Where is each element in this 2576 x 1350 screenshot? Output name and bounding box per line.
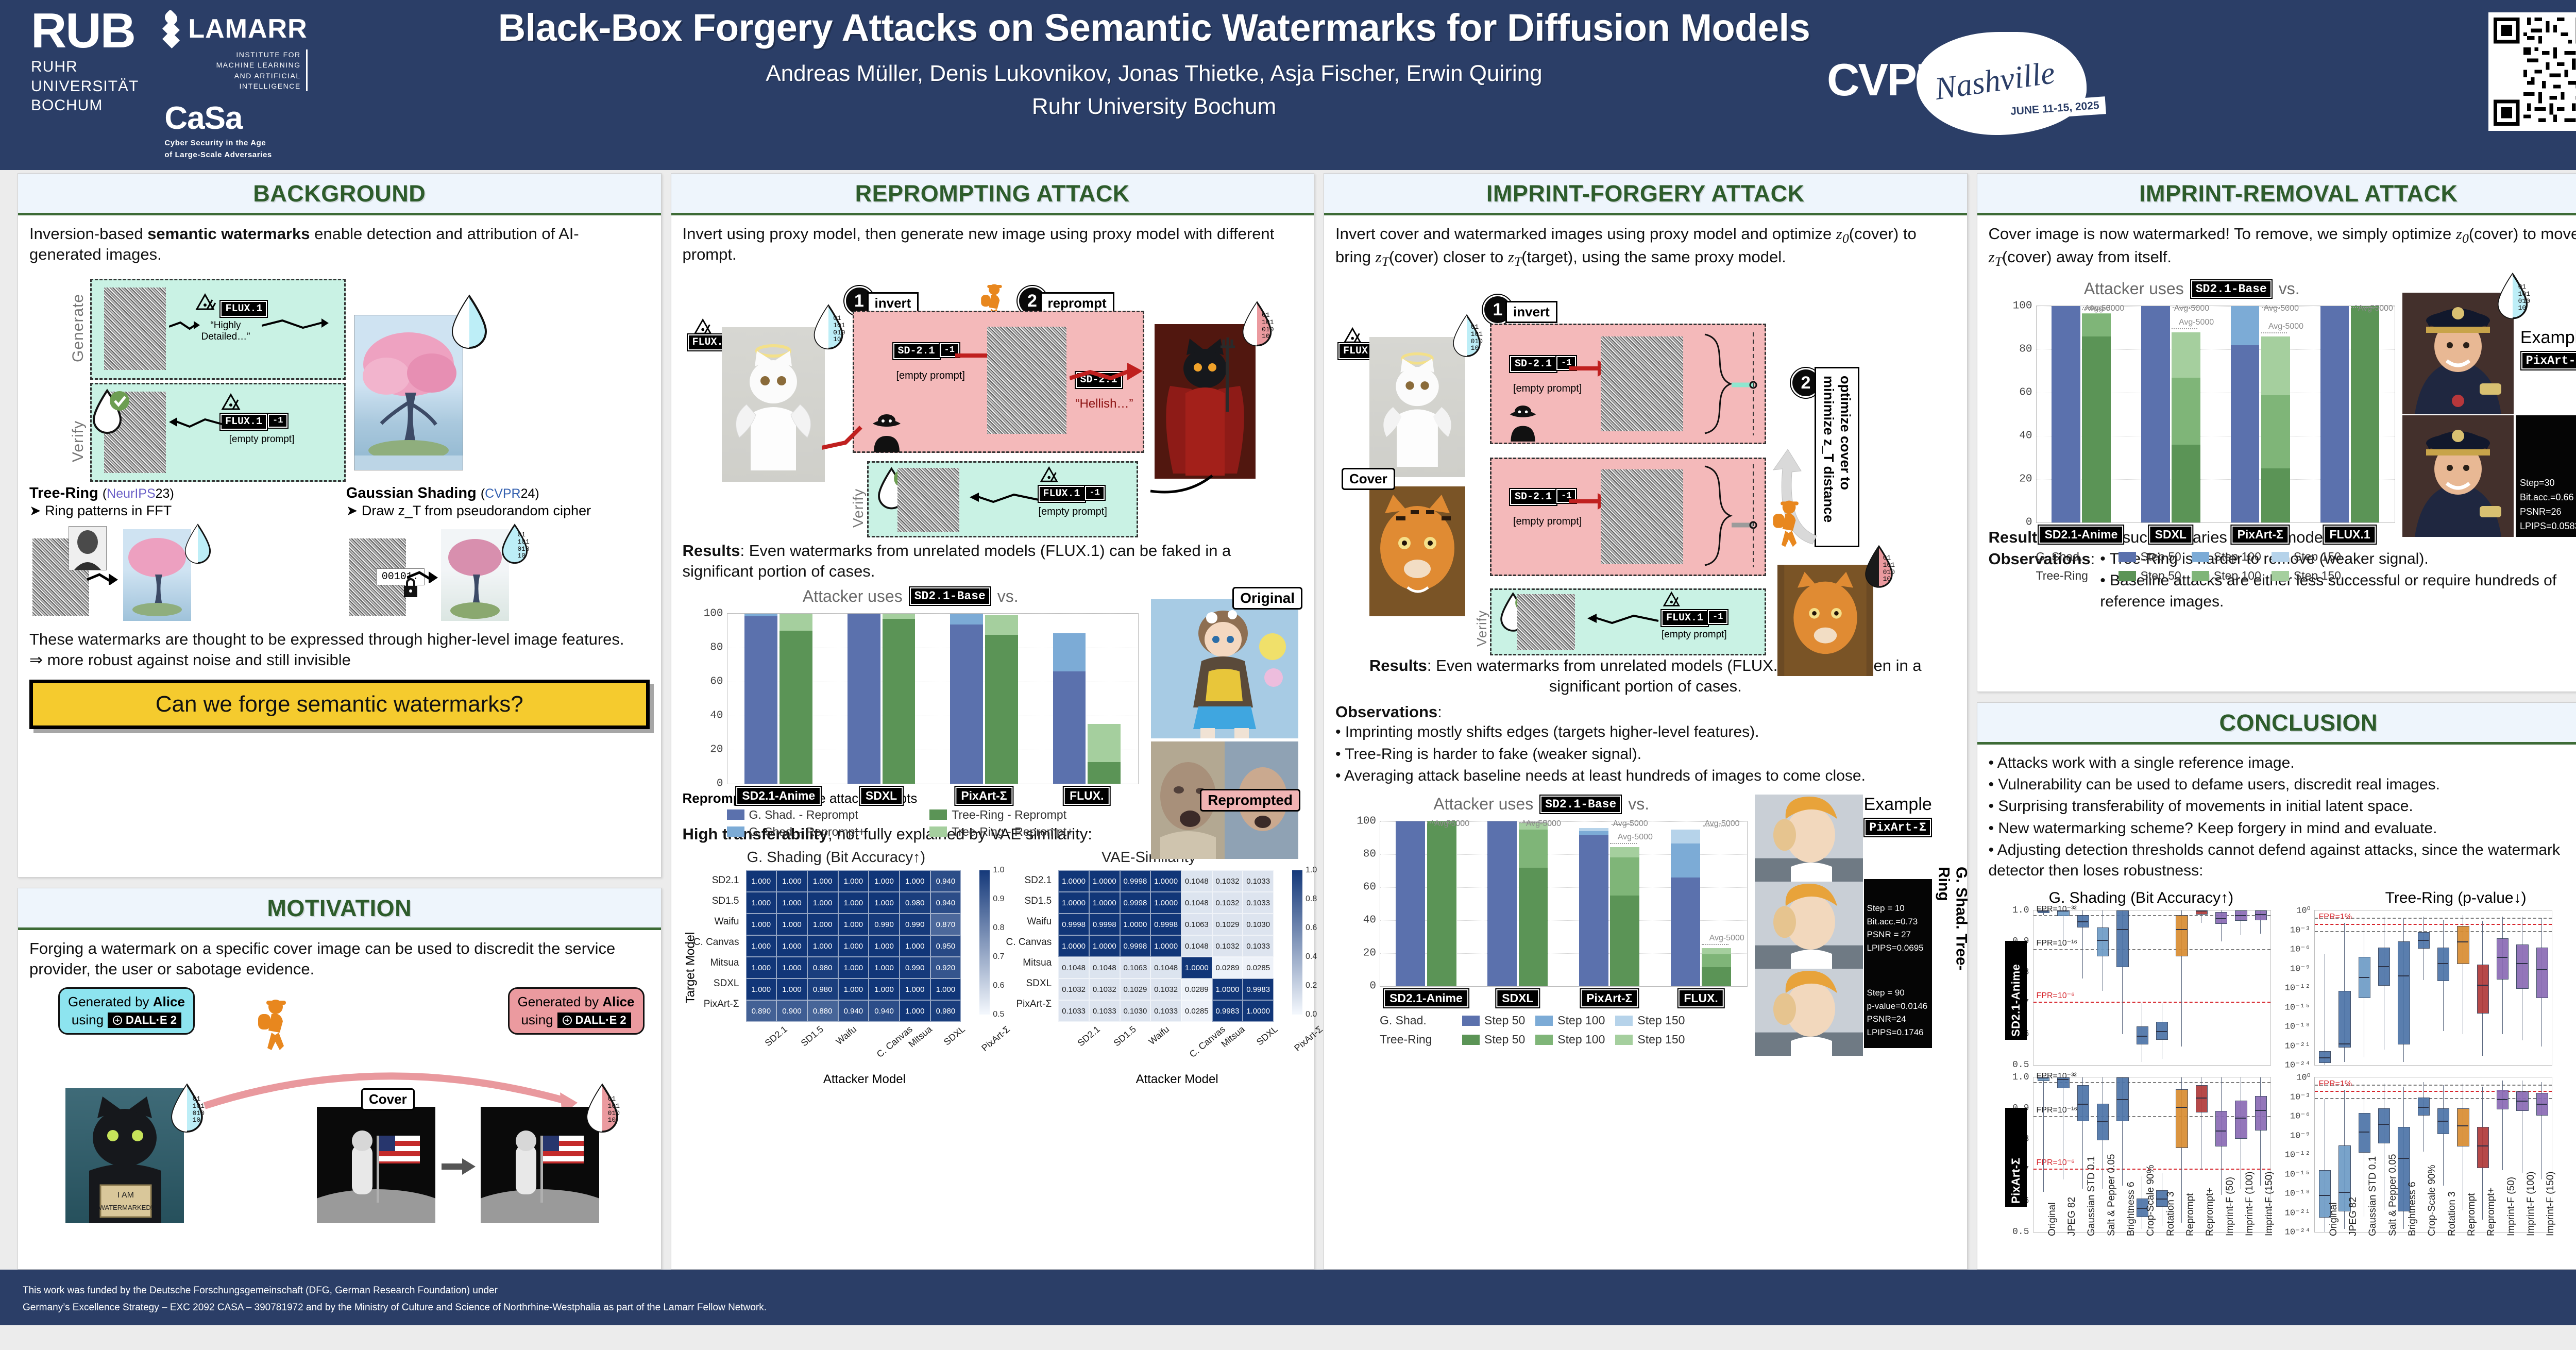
- imprint-removal-header: IMPRINT-REMOVAL ATTACK: [1977, 174, 2576, 215]
- heatmap-cell-3-3: 1.000: [838, 935, 869, 957]
- if-prompt-1: [empty prompt]: [1513, 383, 1582, 395]
- imprint-forgery-body: Invert cover and watermarked images usin…: [1324, 215, 1967, 1269]
- bar-PixArt-3: [1610, 896, 1639, 986]
- if-stat2-2: PSNR=24: [1867, 1012, 1929, 1026]
- boxplot-xlabel-3-5: Crop-Scale 90%: [2427, 1165, 2438, 1236]
- heatmap-cell-5-3: 0.1032: [1150, 978, 1181, 1000]
- tree-ring-arrow: [87, 570, 124, 585]
- bar-FLUX-0: [1053, 671, 1086, 784]
- heatmap-col-label-6: PixArt-Σ: [954, 1022, 990, 1071]
- if-step-2-label-box: optimize cover to minimize z_T distance: [1815, 367, 1859, 547]
- casa-subtitle-1: Cyber Security in the Age: [164, 138, 307, 149]
- lamarr-subtitle: INSTITUTE FORMACHINE LEARNINGAND ARTIFIC…: [164, 49, 307, 91]
- rub-subtitle: RUHR UNIVERSITÄT BOCHUM: [31, 57, 139, 115]
- boxplot-whisker-2-0: [2043, 1077, 2044, 1192]
- heatmap-gshading-block[interactable]: G. Shading (Bit Accuracy↑) SD2.1SD1.5Wai…: [683, 849, 990, 1087]
- boxplot-box-3-7: [2457, 1108, 2469, 1146]
- sd21-tag-invert: SD-2.1: [893, 343, 940, 359]
- angel-cat-art: [722, 327, 825, 482]
- boxplot-panel-1[interactable]: 10⁰10⁻³10⁻⁶10⁻⁹10⁻¹²10⁻¹⁵10⁻¹⁸10⁻²¹10⁻²⁴…: [2314, 910, 2552, 1066]
- ir-stat-0: Step=30: [2520, 476, 2576, 491]
- heatmap-cell-0-3: 1.0000: [1150, 870, 1181, 892]
- heatmap-grid: 1.00001.00000.99981.00000.10480.10320.10…: [1058, 870, 1274, 1022]
- legend-item-3: Tree-Ring - Reprompt+: [929, 825, 1119, 839]
- imprint-forgery-header: IMPRINT-FORGERY ATTACK: [1324, 174, 1967, 215]
- boxplot-box-0-3: [2097, 927, 2109, 956]
- heatmap-col-label-5: SDXL: [1231, 1022, 1267, 1071]
- heatmap-col-label-6: PixArt-Σ: [1266, 1022, 1302, 1071]
- boxplot-ytick-r-3-1: 10⁻³: [2290, 1091, 2311, 1102]
- boxplot-xlabel-2-11: Imprint-F (150): [2264, 1171, 2275, 1236]
- boxplot-threshold-label-r-3: FPR=1%: [2319, 1079, 2352, 1089]
- if-verify-stage: Verify FLUX.1 -1: [1490, 588, 1766, 655]
- reprompt-red-arrow: [1070, 360, 1150, 384]
- if-stat2-1: p-value=0.0146: [1867, 1000, 1929, 1013]
- flux-triangle-icon-verify: [221, 392, 244, 411]
- panel-reprompting: REPROMPTING ATTACK Invert using proxy mo…: [671, 173, 1315, 1270]
- lamarr-mark-icon: [164, 12, 182, 45]
- ir-example-label: Example: [2516, 328, 2576, 348]
- boxplot-median-3-9: [2497, 1099, 2507, 1100]
- if-stat2-3: LPIPS=0.1746: [1867, 1026, 1929, 1039]
- if-distribution-2: [1700, 463, 1761, 569]
- tree-ring-title: Tree-Ring (NeurIPS23): [29, 485, 333, 502]
- rub-logo: RUB RUHR UNIVERSITÄT BOCHUM: [31, 7, 139, 115]
- heatmap-cell-2-6: 0.870: [930, 914, 961, 935]
- boxplot-xlabel-2-5: Crop-Scale 90%: [2145, 1165, 2157, 1236]
- heatmap-row-label-6: PixArt-Σ: [995, 994, 1055, 1015]
- boxplot-box-2-2: [2077, 1085, 2089, 1121]
- poster-columns: BACKGROUND Inversion-based semantic wate…: [0, 173, 2576, 1270]
- chart-ir-bar[interactable]: Removal Success (%) 020406080100Avg-5000…: [2036, 306, 2396, 522]
- heatmap-cell-1-2: 0.9998: [1120, 892, 1151, 914]
- heatmap-cbar-tick-3: 0.6: [1306, 923, 1317, 933]
- ir-stat-1: Bit.acc.=0.66: [2520, 491, 2576, 505]
- heatmap-cell-2-0: 1.000: [746, 914, 777, 935]
- conclusion-header: CONCLUSION: [1977, 703, 2576, 745]
- bar-SD21Anime-3: [1427, 821, 1456, 986]
- heatmap-cell-2-3: 1.000: [838, 914, 869, 935]
- if-latent-1: [1601, 336, 1683, 431]
- flux-inv-sup-rp: -1: [1085, 486, 1105, 500]
- boxplot-threshold-label-0-1: FPR=10⁻¹⁶: [2037, 938, 2078, 948]
- gauss-bullet: ➤ Draw z_T from pseudorandom cipher: [346, 503, 650, 519]
- if-verify-arrow: [1584, 613, 1659, 626]
- boxplot-median-2-8: [2196, 1098, 2207, 1099]
- heatmap-col-label-4: Mitsua: [883, 1022, 919, 1071]
- heatmap-cell-5-6: 1.000: [930, 978, 961, 1000]
- footer-line-2: Germany’s Excellence Strategy – EXC 2092…: [23, 1299, 2576, 1316]
- boxplot-median-2-3: [2097, 1121, 2108, 1122]
- heatmap-cell-2-4: 0.1063: [1181, 914, 1212, 935]
- openai-icon: [112, 1015, 123, 1025]
- boxplot-median-2-10: [2235, 1118, 2246, 1119]
- boxplot-box-2-9: [2215, 1111, 2227, 1146]
- bar-SD21Anime-2: [779, 631, 812, 784]
- heatmap-cell-5-2: 0.1029: [1120, 978, 1151, 1000]
- page-title: Black-Box Forgery Attacks on Semantic Wa…: [495, 7, 1814, 48]
- boxplot-box-1-11: [2536, 948, 2548, 998]
- reprompted-label: Reprompted: [1200, 789, 1300, 812]
- heatmap-gshading-title: G. Shading (Bit Accuracy↑): [683, 849, 990, 866]
- legend-item-2: Tree-Ring - Reprompt: [929, 808, 1119, 822]
- conclusion-bullets: • Attacks work with a single reference i…: [1989, 753, 2576, 881]
- boxplot-xlabel-2-10: Imprint-F (100): [2244, 1171, 2256, 1236]
- zt-symbol-2: zT: [1508, 248, 1521, 266]
- heatmap-cell-6-0: 0.890: [746, 1000, 777, 1022]
- openai-icon-2: [562, 1015, 572, 1025]
- if-cover-label: Cover: [1342, 468, 1395, 490]
- boxplot-median-3-8: [2477, 1145, 2488, 1146]
- boxplot-median-0-8: [2196, 910, 2207, 912]
- flux-triangle-icon-vrp: [1039, 465, 1062, 483]
- z0-symbol-1: z0: [1836, 225, 1849, 243]
- boxplot-threshold-label-0-2: FPR=10⁻⁶: [2037, 990, 2075, 1001]
- boxplot-ytick-r-3-3: 10⁻⁹: [2290, 1130, 2311, 1141]
- affiliation: Ruhr University Bochum: [495, 94, 1814, 120]
- legend-item-1: G. Shad. - Reprompt+: [727, 825, 917, 839]
- boxplot-xlabel-2-7: Reprompt: [2185, 1193, 2196, 1236]
- boxplot-whisker-3-3: [2384, 1084, 2384, 1210]
- background-body: Inversion-based semantic watermarks enab…: [18, 215, 661, 877]
- heatmap-cell-4-5: 0.990: [900, 957, 930, 978]
- bar-SD21Anime-0: [744, 616, 777, 784]
- ir-stat-2: PSNR=26: [2520, 505, 2576, 519]
- verify-stage-rp: Verify FLUX.1 -1: [867, 461, 1138, 537]
- arrow-noise-to-model: [169, 319, 200, 331]
- heatmap-cell-1-5: 0.1032: [1212, 892, 1243, 914]
- astronaut-art: [317, 1107, 435, 1223]
- boxplot-xlabel-3-3: Salt & Pepper 0.05: [2387, 1154, 2399, 1237]
- boxplot-treering-block[interactable]: Tree-Ring (p-value↓): [2303, 889, 2576, 907]
- if-stat1-0: Step = 10: [1867, 902, 1929, 915]
- if-observation-1: • Tree-Ring is harder to fake (weaker si…: [1335, 744, 1956, 765]
- generated-tree-image: [354, 315, 463, 470]
- ir-z0-symbol: z0: [2456, 225, 2469, 243]
- lamarr-logo: LAMARR INSTITUTE FORMACHINE LEARNINGAND …: [164, 12, 307, 91]
- attacker-model-tag-if: SD2.1-Base: [1540, 796, 1621, 813]
- boxplot-box-1-1: [2338, 991, 2350, 1048]
- poster-root: RUB RUHR UNIVERSITÄT BOCHUM LAMARR INSTI…: [0, 0, 2576, 1325]
- heatmap-cell-6-5: 0.9983: [1212, 1000, 1243, 1022]
- boxplot-panel-0[interactable]: 0.50.60.70.80.91.0FPR=10⁻³²FPR=10⁻¹⁶FPR=…: [2033, 910, 2271, 1066]
- spy-icon-if: [1506, 403, 1540, 443]
- ir-droplet-bits: 0110101010: [2518, 283, 2530, 312]
- heatmap-cell-4-0: 1.000: [746, 957, 777, 978]
- boxplot-ytick-0-0: 0.5: [2012, 1060, 2029, 1070]
- boxplot-xlabel-3-8: Reprompt+: [2486, 1188, 2497, 1237]
- if-verify-latent: [1517, 594, 1575, 650]
- boxplot-box-3-2: [2359, 1113, 2370, 1153]
- heatmap-wrap-hm2: SD2.1SD1.5WaifuC. CanvasMitsuaSDXLPixArt…: [995, 870, 1302, 1022]
- boxplot-median-3-6: [2437, 1121, 2448, 1122]
- if-chart-block: Attacker uses SD2.1-Base vs. Detection S…: [1335, 795, 1748, 986]
- legend-item-0: Step 50: [2119, 550, 2181, 564]
- boxplot-median-1-2: [2359, 977, 2369, 978]
- astronaut-art-2: [481, 1107, 599, 1223]
- heatmap-col-label-2: Waifu: [1123, 1022, 1159, 1071]
- heatmap-cell-6-2: 0.880: [807, 1000, 838, 1022]
- heatmap-cbar-tick-1: 0.2: [1306, 981, 1317, 990]
- boxplot-xlabel-2-9: Imprint-F (50): [2225, 1177, 2236, 1236]
- panel-motivation: MOTIVATION Forging a watermark on a spec…: [18, 888, 662, 1270]
- gauss-arrow: [407, 568, 444, 583]
- if-stat1-2: PSNR = 27: [1867, 928, 1929, 941]
- boxplot-median-0-4: [2116, 929, 2127, 930]
- attacker-caption-if: Attacker uses SD2.1-Base vs.: [1335, 795, 1748, 814]
- heatmap-cell-4-3: 0.1048: [1150, 957, 1181, 978]
- if-distribution-1: [1700, 330, 1761, 437]
- boxplot-panel-2[interactable]: 0.50.60.70.80.91.0FPR=10⁻³²FPR=10⁻¹⁶FPR=…: [2033, 1077, 2271, 1233]
- flux-icon-if: [1343, 326, 1365, 344]
- heatmap-col-label-3: C. Canvas: [846, 1022, 883, 1071]
- if-sd21-node-2: SD-2.1 -1: [1510, 489, 1576, 505]
- chart-reprompt-bar[interactable]: Detection Score (%) 020406080100SD2.1-An…: [727, 613, 1139, 783]
- legend-row-1: Tree-RingStep 50Step 100Step 150: [2036, 569, 2396, 583]
- boxplot-xlabel-2-0: Original: [2047, 1203, 2058, 1236]
- heatmap-cell-0-6: 0.1033: [1243, 870, 1274, 892]
- flux-triangle-icon-if: [1343, 326, 1365, 344]
- chart-reprompt-legend: G. Shad. - RepromptTree-Ring - RepromptG…: [727, 808, 1139, 839]
- heatmap-cell-0-2: 0.9998: [1120, 870, 1151, 892]
- child-photo-art-3: [1755, 969, 1863, 1056]
- sd21-invert-node: SD-2.1 -1: [893, 343, 959, 359]
- generate-stage: FLUX.1 “Highly Detailed…”: [90, 279, 346, 380]
- boxplot-median-3-0: [2319, 1195, 2330, 1196]
- heatmap-cell-0-0: 1.0000: [1058, 870, 1089, 892]
- conclusion-bullet-0: • Attacks work with a single reference i…: [1989, 753, 2576, 773]
- fft-pattern-thumb: [69, 526, 107, 570]
- legend-item-5: Step 150: [2272, 569, 2341, 583]
- boxplot-box-0-11: [2255, 910, 2267, 920]
- boxplot-box-2-8: [2196, 1085, 2208, 1112]
- boxplot-box-2-7: [2176, 1089, 2188, 1148]
- qr-code[interactable]: [2488, 12, 2576, 131]
- heatmap-cell-1-0: 1.000: [746, 892, 777, 914]
- boxplot-median-0-0: [2038, 910, 2048, 912]
- boxplot-whisker-2-1: [2063, 1077, 2063, 1179]
- heatmap-vae-block[interactable]: VAE-Similarity SD2.1SD1.5WaifuC. CanvasM…: [995, 849, 1302, 1087]
- tiger-forged-image: [1777, 565, 1873, 676]
- boxplot-median-3-5: [2418, 1107, 2429, 1108]
- verify-droplet-check: [90, 387, 131, 440]
- footer-line-1: This work was funded by the Deutsche For…: [23, 1282, 2576, 1299]
- boxplot-gshading-title: G. Shading (Bit Accuracy↑): [1989, 889, 2294, 907]
- cat-diver-art: I AM WATERMARKED!: [65, 1088, 184, 1223]
- conclusion-bullet-3: • New watermarking scheme? Keep forgery …: [1989, 818, 2576, 839]
- forged-bits-rp: 0110101010: [1262, 312, 1274, 340]
- heatmap-cell-1-5: 0.980: [900, 892, 930, 914]
- legend-item-3: Step 50: [2119, 569, 2181, 583]
- bar-SDXL-0: [2141, 306, 2170, 522]
- legend-item-1: Step 100: [1535, 1014, 1605, 1027]
- background-closing-1: These watermarks are thought to be expre…: [29, 629, 650, 650]
- boxplot-treering-title: Tree-Ring (p-value↓): [2303, 889, 2576, 907]
- if-example-caption: Example PixArt-Σ: [1864, 795, 1932, 836]
- boxplot-xlabel-3-4: Brightness 6: [2407, 1182, 2418, 1237]
- heatmap-row-label-3: C. Canvas: [995, 932, 1055, 953]
- ir-results-row: Attacker uses SD2.1-Base vs. Removal Suc…: [1989, 279, 2576, 522]
- motivation-figure: Generated by Alice using DALL·E 2: [29, 987, 650, 1229]
- if-child-photo-2: [1755, 882, 1863, 969]
- svg-text:WATERMARKED!: WATERMARKED!: [99, 1204, 153, 1211]
- heatmap-col-label-1: SD1.5: [775, 1022, 811, 1071]
- boxplot-ytick-r-1-7: 10⁻²¹: [2285, 1040, 2311, 1051]
- boxplot-threshold-0-2: [2033, 1002, 2270, 1003]
- boxplot-xlabel-3-7: Reprompt: [2466, 1193, 2478, 1236]
- tiger-cover-image: [1369, 486, 1465, 616]
- watermark-methods-row: Tree-Ring (NeurIPS23) ➤ Ring patterns in…: [29, 485, 650, 626]
- droplet-bits: 0110101010: [517, 531, 529, 560]
- imprint-removal-intro: Cover image is now watermarked! To remov…: [1989, 224, 2576, 270]
- bubble-right-line1: Generated by Alice: [518, 994, 635, 1010]
- portrait-icon: [69, 527, 106, 570]
- imprint-forgery-intro: Invert cover and watermarked images usin…: [1335, 224, 1956, 270]
- boxplot-xlabel-3-9: Imprint-F (50): [2506, 1177, 2517, 1236]
- heatmap-cbar-tick-5: 1.0: [1306, 866, 1317, 875]
- boxplot-panel-3[interactable]: 10⁰10⁻³10⁻⁶10⁻⁹10⁻¹²10⁻¹⁵10⁻¹⁸10⁻²¹10⁻²⁴…: [2314, 1077, 2552, 1233]
- boxplot-whisker-2-11: [2260, 1077, 2261, 1186]
- boxplot-median-1-8: [2477, 985, 2488, 986]
- if-step-1-label: invert: [1505, 301, 1557, 323]
- if-forged-bits: 0110101010: [1883, 554, 1895, 583]
- heatmap-cell-4-6: 0.0285: [1243, 957, 1274, 978]
- heatmap-cell-2-3: 0.9998: [1150, 914, 1181, 935]
- poster-footer: This work was funded by the Deutsche For…: [0, 1270, 2576, 1325]
- invert-prompt: [empty prompt]: [896, 370, 965, 382]
- if-example-block: Example PixArt-Σ Step = 10Bit.acc.=0.73P…: [1755, 795, 1956, 986]
- boxplot-ytick-r-1-5: 10⁻¹⁵: [2285, 1002, 2311, 1012]
- child-photo-art-2: [1755, 882, 1863, 969]
- boxplot-box-1-4: [2398, 941, 2410, 1044]
- boxplot-median-1-3: [2378, 966, 2389, 967]
- bubble-left-line2: using DALL·E 2: [68, 1012, 185, 1028]
- heatmap-cell-3-4: 0.1048: [1181, 935, 1212, 957]
- heatmap-cell-3-4: 1.000: [869, 935, 900, 957]
- boxplot-xlabel-3-11: Imprint-F (150): [2545, 1171, 2556, 1236]
- cover-moon-image: [317, 1107, 435, 1223]
- boxplot-xlabel-3-6: Rotation 3: [2447, 1192, 2458, 1237]
- if-flux-tag-verify: FLUX.1: [1662, 610, 1708, 626]
- boxplot-median-3-7: [2457, 1125, 2468, 1126]
- if-example-stats-2: Step = 90p-value=0.0146PSNR=24LPIPS=0.17…: [1864, 964, 1932, 1048]
- source-watermark-droplet: 0110101010: [810, 303, 846, 352]
- reprompting-body: Invert using proxy model, then generate …: [671, 215, 1314, 1269]
- if-sd21-tag-1: SD-2.1: [1510, 356, 1556, 372]
- heatmap-cell-4-1: 0.1048: [1089, 957, 1120, 978]
- watermarked-cat-image: I AM WATERMARKED!: [65, 1088, 184, 1223]
- reprompting-results: Results: Even watermarks from unrelated …: [683, 541, 1303, 581]
- cvpr-wordmark: CVPR: [1827, 54, 1947, 106]
- boxplot-xlabel-3-2: Gaussian STD 0.1: [2367, 1156, 2379, 1236]
- heatmap-cell-0-1: 1.000: [776, 870, 807, 892]
- heatmap-cell-2-5: 0.1029: [1212, 914, 1243, 935]
- heatmap-col-labels: SD2.1SD1.5WaifuC. CanvasMitsuaSDXLPixArt…: [1052, 1022, 1302, 1071]
- cat-droplet-bits: 0110101010: [193, 1095, 205, 1124]
- legend-item-5: Step 150: [1615, 1033, 1685, 1047]
- cover-label-motivation: Cover: [361, 1088, 415, 1110]
- bar-PixArt-0: [1579, 835, 1608, 986]
- heatmap-col-label-1: SD1.5: [1088, 1022, 1124, 1071]
- heatmap-row-label-5: SDXL: [995, 973, 1055, 994]
- heatmap-cell-3-0: 1.0000: [1058, 935, 1089, 957]
- conclusion-bullet-4: • Adjusting detection thresholds cannot …: [1989, 840, 2576, 881]
- boxplot-box-1-8: [2477, 965, 2489, 1014]
- bar-SDXL-3: [1519, 868, 1548, 986]
- boxplot-box-2-11: [2255, 1096, 2267, 1130]
- heatmap-cell-1-6: 0.940: [930, 892, 961, 914]
- bar-SDXL-0: [1487, 821, 1517, 986]
- ir-chart-block: Attacker uses SD2.1-Base vs. Removal Suc…: [1989, 279, 2396, 522]
- boxplot-median-2-1: [2057, 1079, 2068, 1080]
- thief-icon: [251, 997, 295, 1058]
- casa-name: CaSa: [164, 103, 307, 134]
- heatmap-xlabel: Attacker Model: [1052, 1072, 1302, 1087]
- heatmap-cell-4-2: 0.1063: [1120, 957, 1151, 978]
- dalle-badge-left: DALL·E 2: [108, 1012, 181, 1028]
- heatmap-colorbar: 0.00.20.40.60.81.0: [1292, 870, 1302, 1015]
- if-results-row: Attacker uses SD2.1-Base vs. Detection S…: [1335, 795, 1956, 986]
- boxplot-xlabel-2-4: Brightness 6: [2126, 1182, 2137, 1237]
- heatmap-cell-5-5: 1.0000: [1212, 978, 1243, 1000]
- if-source-droplet: 0110101010: [1450, 313, 1484, 360]
- gauss-title: Gaussian Shading (CVPR24): [346, 485, 650, 502]
- heatmap-cell-0-4: 0.1048: [1181, 870, 1212, 892]
- legend-row-0: G. Shad.Step 50Step 100Step 150: [2036, 550, 2396, 564]
- boxplot-median-0-5: [2137, 1036, 2147, 1037]
- boxplot-median-0-3: [2097, 940, 2108, 941]
- tiger-art-2: [1777, 565, 1873, 676]
- heatmap-cell-6-6: 0.980: [930, 1000, 961, 1022]
- bar-PixArt-3: [2261, 468, 2290, 522]
- if-stat2-0: Step = 90: [1867, 986, 1929, 1000]
- droplet-icon: [448, 294, 491, 349]
- heatmap-row-label-1: SD1.5: [995, 891, 1055, 912]
- heatmap-cell-3-3: 1.0000: [1150, 935, 1181, 957]
- boxplot-ytick-r-1-1: 10⁻³: [2290, 924, 2311, 935]
- bubble-left-line1: Generated by Alice: [68, 994, 185, 1010]
- boxplot-ytick-r-1-2: 10⁻⁶: [2290, 944, 2311, 955]
- if-observations-title: Observations:: [1335, 702, 1956, 722]
- chart-if-bar[interactable]: Detection Score (%) 020406080100Avg-5000…: [1380, 821, 1748, 986]
- heatmap-cell-4-0: 0.1048: [1058, 957, 1089, 978]
- legend-item-4: Step 100: [2192, 569, 2261, 583]
- boxplot-ytick-r-3-0: 10⁰: [2296, 1072, 2310, 1083]
- anime-girl-art: [1151, 599, 1298, 738]
- heatmap-cell-1-2: 1.000: [807, 892, 838, 914]
- conclusion-bullet-1: • Vulnerability can be used to defame us…: [1989, 774, 2576, 795]
- tiger-art: [1369, 486, 1465, 616]
- verify-prompt-rp: [empty prompt]: [1039, 506, 1107, 518]
- boxplot-ytick-r-3-6: 10⁻¹⁸: [2285, 1188, 2311, 1199]
- heatmap-row-label-1: SD1.5: [683, 891, 743, 912]
- heatmap-cell-5-4: 0.0289: [1181, 978, 1212, 1000]
- motivation-header: MOTIVATION: [18, 888, 661, 930]
- heatmap-cell-2-5: 0.990: [900, 914, 930, 935]
- boxplot-gshading-block[interactable]: G. Shading (Bit Accuracy↑): [1989, 889, 2294, 907]
- boxplot-box-1-9: [2497, 938, 2509, 980]
- heatmap-cell-3-5: 0.1032: [1212, 935, 1243, 957]
- boxplot-ytick-r-1-8: 10⁻²⁴: [2285, 1060, 2311, 1071]
- poster-header: RUB RUHR UNIVERSITÄT BOCHUM LAMARR INSTI…: [0, 0, 2576, 170]
- droplet-icon-tr: [182, 523, 214, 564]
- if-side-label: G. Shad. Tree-Ring: [1935, 867, 1970, 986]
- bubble-right: Generated by Alice using DALL·E 2: [508, 987, 645, 1035]
- boxplot-median-1-7: [2457, 941, 2468, 942]
- heatmap-cell-4-5: 0.0289: [1212, 957, 1243, 978]
- heatmap-xlabel: Attacker Model: [739, 1072, 990, 1087]
- reprompt-examples: Original: [1148, 587, 1302, 806]
